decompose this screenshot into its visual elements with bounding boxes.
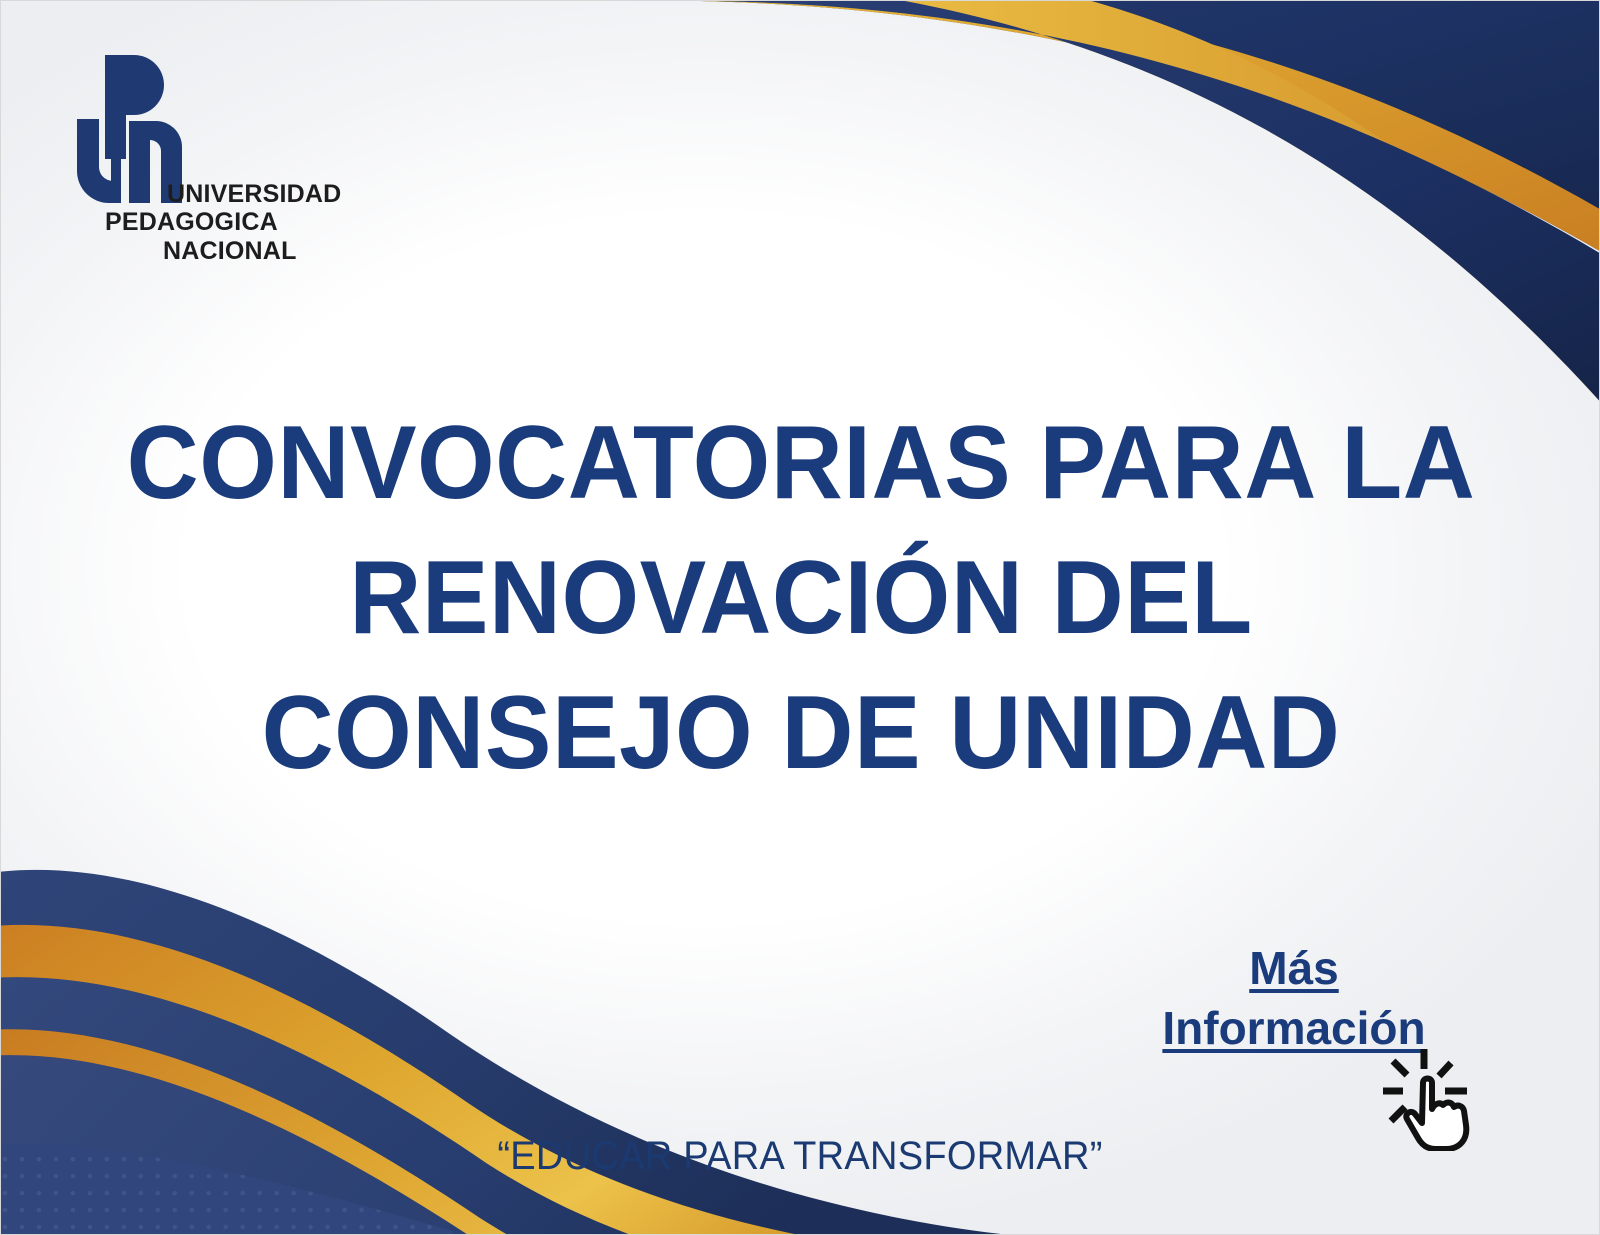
more-info-link-wrapper[interactable]: Más Información — [1129, 939, 1459, 1059]
logo-line-universidad: UNIVERSIDAD — [61, 181, 321, 207]
title-line-3: CONSEJO DE UNIDAD — [119, 666, 1482, 801]
logo-wordmark: UNIVERSIDAD PEDAGOGICA NACIONAL — [61, 181, 321, 264]
slide-canvas: UNIVERSIDAD PEDAGOGICA NACIONAL CONVOCAT… — [0, 0, 1600, 1235]
page-title: CONVOCATORIAS PARA LA RENOVACIÓN DEL CON… — [91, 396, 1511, 802]
title-line-1: CONVOCATORIAS PARA LA — [119, 396, 1482, 531]
logo: UNIVERSIDAD PEDAGOGICA NACIONAL — [61, 49, 321, 279]
logo-line-pedagogica: PEDAGOGICA — [61, 209, 321, 235]
title-line-2: RENOVACIÓN DEL — [119, 531, 1482, 666]
logo-line-nacional: NACIONAL — [61, 238, 321, 264]
more-info-link[interactable]: Más Información — [1129, 939, 1459, 1059]
tagline: “EDUCAR PARA TRANSFORMAR” — [41, 1134, 1559, 1179]
pointing-hand-click-icon[interactable] — [1379, 1043, 1489, 1151]
more-info-line-1: Más — [1129, 939, 1459, 999]
